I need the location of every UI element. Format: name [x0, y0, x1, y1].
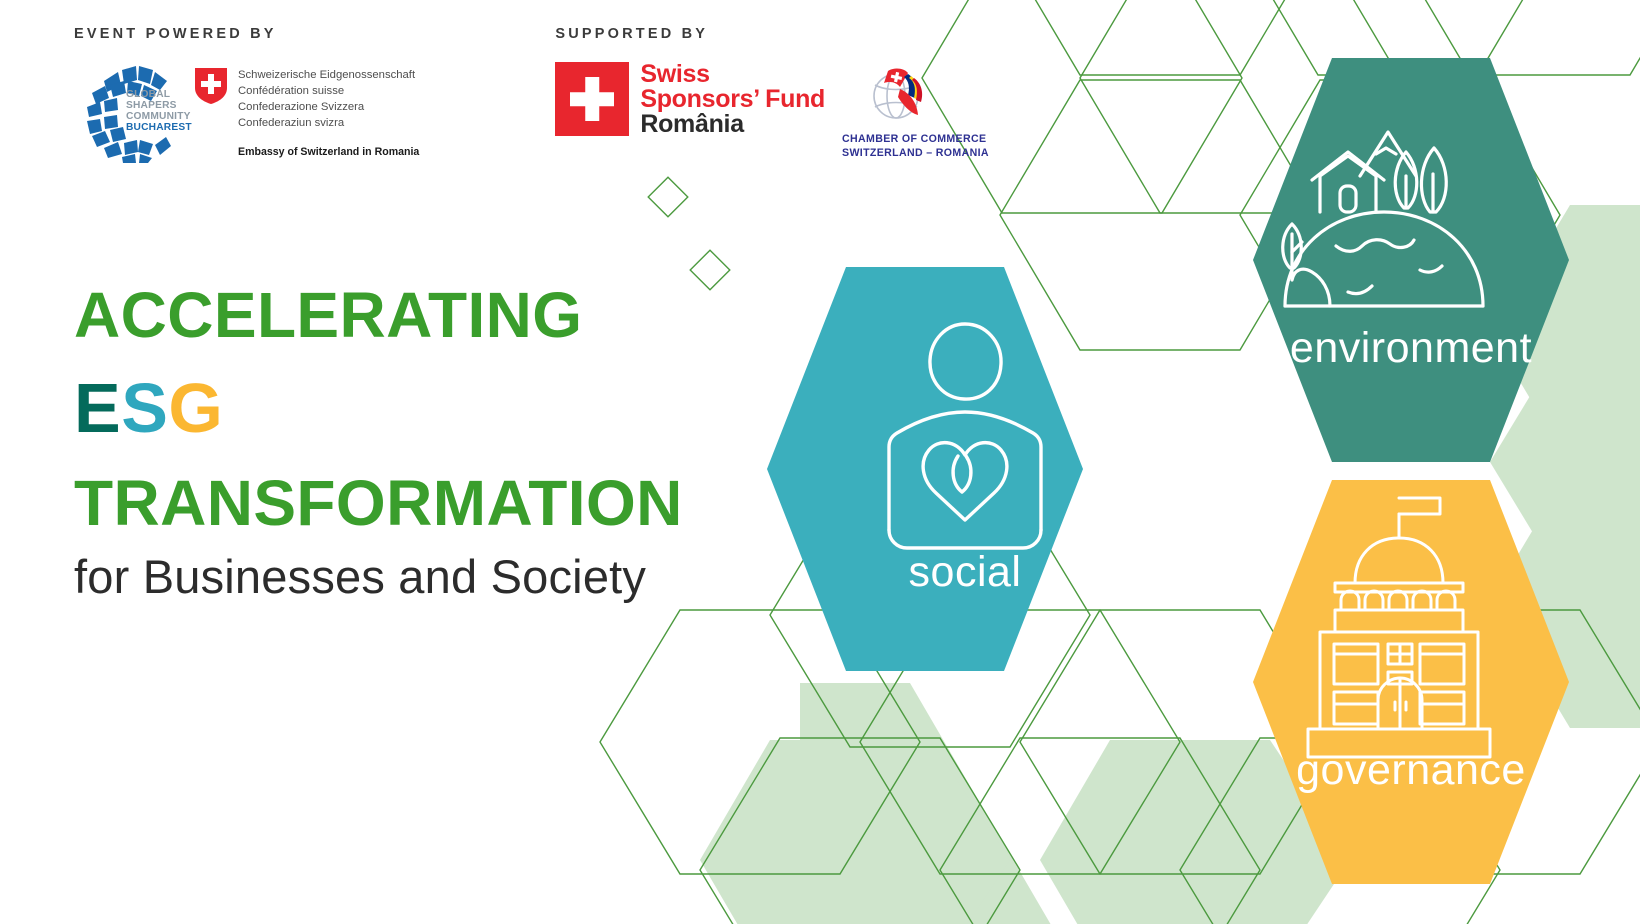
- pillar-label-social: social: [909, 548, 1022, 596]
- headline-esg: ESG: [74, 373, 683, 443]
- swiss-confederation-languages: Schweizerische Eidgenossenschaft Confédé…: [238, 67, 419, 131]
- esg-letter-g: G: [168, 369, 223, 447]
- chamber-of-commerce-logo[interactable]: CHAMBER OF COMMERCE SWITZERLAND – ROMANI…: [842, 59, 989, 160]
- chamber-of-commerce-wordmark: CHAMBER OF COMMERCE SWITZERLAND – ROMANI…: [842, 132, 989, 160]
- pillar-governance[interactable]: governance: [1253, 480, 1569, 884]
- headline-subtitle: for Businesses and Society: [74, 549, 683, 604]
- coc-line-1: CHAMBER OF COMMERCE: [842, 132, 989, 146]
- ssf-line-1: Swiss: [640, 62, 825, 87]
- chamber-of-commerce-globe-icon: [842, 65, 950, 127]
- kicker-event-powered-by: EVENT POWERED BY: [74, 26, 419, 42]
- diamond-outline-lower: [690, 250, 730, 290]
- gs-line-3: COMMUNITY: [126, 111, 192, 122]
- swiss-line-3: Confederazione Svizzera: [238, 99, 419, 115]
- gs-line-2: SHAPERS: [126, 100, 192, 111]
- embassy-of-switzerland-label: Embassy of Switzerland in Romania: [238, 146, 419, 158]
- ssf-line-3: România: [640, 112, 825, 137]
- pillar-label-governance: governance: [1296, 746, 1526, 794]
- diamond-outline-upper: [648, 177, 688, 217]
- sponsor-strip: EVENT POWERED BY: [74, 26, 989, 163]
- poster-canvas: EVENT POWERED BY: [0, 0, 1640, 924]
- pillar-social[interactable]: social: [767, 267, 1083, 671]
- pale-hexagon-bottom-mid: [800, 683, 1075, 924]
- hex-outline: [1000, 0, 1320, 75]
- coc-line-2: SWITZERLAND – ROMANIA: [842, 146, 989, 160]
- headline-block: ACCELERATING ESG TRANSFORMATION for Busi…: [74, 283, 683, 604]
- swiss-line-2: Confédération suisse: [238, 83, 419, 99]
- hex-outline: [700, 738, 1020, 924]
- ssf-line-2: Sponsors’ Fund: [640, 87, 825, 112]
- gs-line-4: BUCHAREST: [126, 122, 192, 133]
- pillar-environment[interactable]: environment: [1253, 58, 1569, 462]
- headline-line-accelerating: ACCELERATING: [74, 283, 683, 347]
- block-supported-by: SUPPORTED BY Swiss Sponsors’ Fund Români…: [555, 26, 989, 160]
- pillar-label-environment: environment: [1290, 324, 1532, 372]
- global-shapers-wordmark: GLOBAL SHAPERS COMMUNITY BUCHAREST: [126, 89, 192, 133]
- swiss-line-1: Schweizerische Eidgenossenschaft: [238, 67, 419, 83]
- diamond-group: [648, 177, 730, 290]
- swiss-flag-icon: [555, 62, 629, 136]
- esg-letter-s: S: [121, 369, 168, 447]
- swiss-line-4: Confederaziun svizra: [238, 115, 419, 131]
- swiss-sponsors-fund-logo[interactable]: Swiss Sponsors’ Fund România: [555, 62, 825, 136]
- headline-line-transformation: TRANSFORMATION: [74, 471, 683, 535]
- swiss-confederation-logo[interactable]: Schweizerische Eidgenossenschaft Confédé…: [194, 59, 419, 158]
- hexagon-social[interactable]: [767, 267, 1083, 671]
- swiss-cross-shield-icon: [194, 67, 228, 105]
- global-shapers-logo[interactable]: GLOBAL SHAPERS COMMUNITY BUCHAREST: [74, 59, 186, 163]
- block-event-powered-by: EVENT POWERED BY: [74, 26, 419, 163]
- hex-outline: [940, 738, 1260, 924]
- kicker-supported-by: SUPPORTED BY: [555, 26, 989, 42]
- swiss-sponsors-fund-wordmark: Swiss Sponsors’ Fund România: [640, 62, 825, 136]
- gs-line-1: GLOBAL: [126, 89, 192, 100]
- pale-hexagon-bottom-left: [700, 740, 1010, 924]
- esg-letter-e: E: [74, 369, 121, 447]
